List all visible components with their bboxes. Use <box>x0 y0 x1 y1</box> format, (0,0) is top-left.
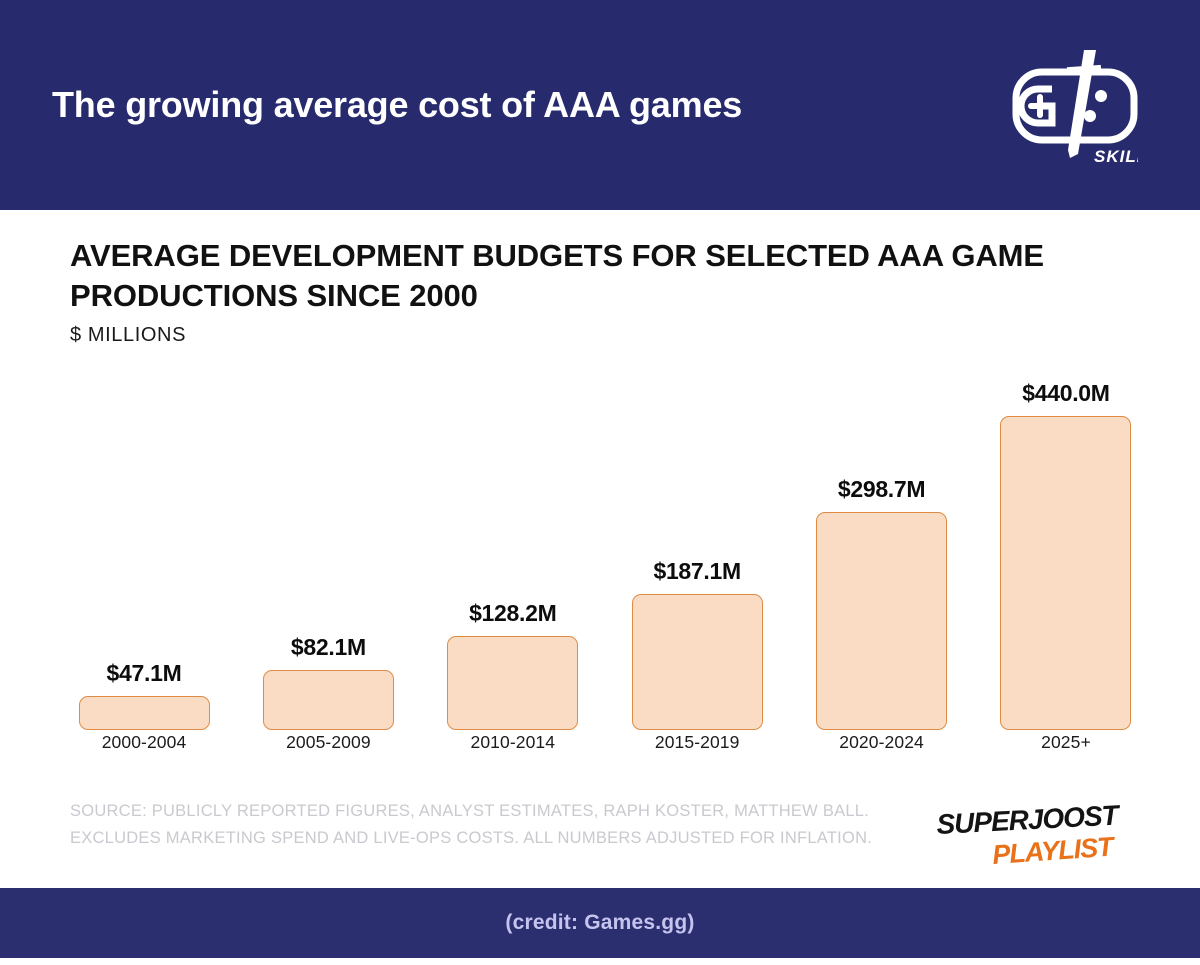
bar-value-label: $47.1M <box>107 660 182 687</box>
bar-value-label: $128.2M <box>469 600 556 627</box>
footer-bottom-strip <box>0 958 1200 965</box>
header-banner: The growing average cost of AAA games SK… <box>0 0 1200 210</box>
source-row: SOURCE: PUBLICLY REPORTED FIGURES, ANALY… <box>70 798 1140 872</box>
infographic-page: The growing average cost of AAA games SK… <box>0 0 1200 965</box>
bar-rect <box>263 670 394 730</box>
superjoost-playlist-logo: SUPERJOOST PLAYLIST <box>935 802 1140 872</box>
chart-subtitle: $ MILLIONS <box>70 324 1148 347</box>
bar-series: $47.1M$82.1M$128.2M$187.1M$298.7M$440.0M <box>70 380 1140 730</box>
x-axis-label: 2000-2004 <box>70 732 218 753</box>
bar-chart-plot: $47.1M$82.1M$128.2M$187.1M$298.7M$440.0M… <box>70 380 1140 730</box>
bar-group: $298.7M <box>808 380 956 730</box>
x-axis-label: 2005-2009 <box>254 732 402 753</box>
source-note: SOURCE: PUBLICLY REPORTED FIGURES, ANALY… <box>70 798 915 851</box>
bar-value-label: $298.7M <box>838 476 925 503</box>
bar-group: $82.1M <box>254 380 402 730</box>
x-axis-label: 2020-2024 <box>808 732 956 753</box>
bar-value-label: $82.1M <box>291 634 366 661</box>
svg-text:SKILLS: SKILLS <box>1094 147 1138 166</box>
x-axis-label: 2025+ <box>992 732 1140 753</box>
bar-rect <box>1000 416 1131 730</box>
bar-value-label: $440.0M <box>1022 380 1109 407</box>
bar-rect <box>816 512 947 730</box>
footer-credit-bar: (credit: Games.gg) <box>0 888 1200 958</box>
bar-rect <box>632 594 763 730</box>
bar-rect <box>447 636 578 730</box>
bar-group: $187.1M <box>623 380 771 730</box>
bar-group: $128.2M <box>439 380 587 730</box>
bar-group: $47.1M <box>70 380 218 730</box>
bar-rect <box>79 696 210 730</box>
gd-skills-gamepad-logo: SKILLS <box>1012 44 1138 166</box>
bar-value-label: $187.1M <box>653 558 740 585</box>
svg-text:PLAYLIST: PLAYLIST <box>991 831 1117 870</box>
x-axis-label: 2010-2014 <box>439 732 587 753</box>
footer-credit-text: (credit: Games.gg) <box>505 911 694 935</box>
bar-group: $440.0M <box>992 380 1140 730</box>
x-axis-label: 2015-2019 <box>623 732 771 753</box>
header-title: The growing average cost of AAA games <box>52 84 742 125</box>
chart-title: AVERAGE DEVELOPMENT BUDGETS FOR SELECTED… <box>70 236 1110 315</box>
x-axis-labels: 2000-20042005-20092010-20142015-20192020… <box>70 732 1140 753</box>
